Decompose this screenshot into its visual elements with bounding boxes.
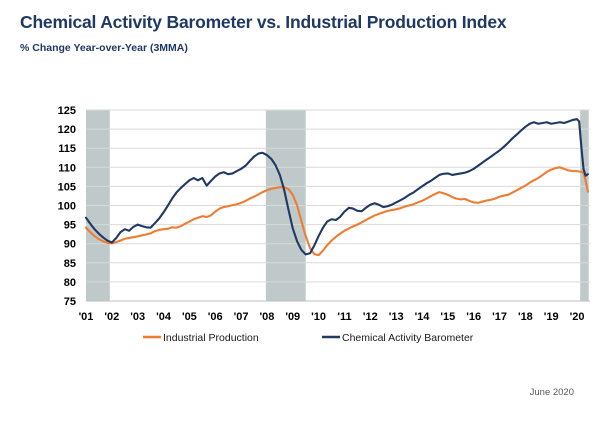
- y-axis-tick-label: 110: [58, 162, 76, 174]
- x-axis-tick-label: '17: [492, 311, 507, 323]
- x-axis-tick-label: '04: [156, 311, 172, 323]
- x-axis-tick-label: '11: [337, 311, 351, 323]
- x-axis-tick-label: '12: [363, 311, 378, 323]
- x-axis-tick-label: '16: [466, 311, 481, 323]
- line-chart-plot: 7580859095100105110115120125'01'02'03'04…: [0, 0, 600, 360]
- x-axis-tick-label: '07: [234, 311, 249, 323]
- y-axis-tick-label: 125: [58, 105, 76, 117]
- x-axis-tick-label: '13: [389, 311, 404, 323]
- y-axis-tick-label: 95: [64, 220, 76, 232]
- y-axis-tick-label: 115: [58, 143, 76, 155]
- x-axis-tick-label: '03: [130, 311, 145, 323]
- chart-container: Chemical Activity Barometer vs. Industri…: [0, 0, 600, 422]
- x-axis-tick-label: '14: [415, 311, 431, 323]
- legend-label: Chemical Activity Barometer: [342, 332, 474, 344]
- y-axis-tick-label: 90: [64, 239, 76, 251]
- date-footnote: June 2020: [530, 387, 574, 398]
- x-axis-tick-label: '10: [311, 311, 326, 323]
- y-axis-tick-label: 85: [64, 258, 76, 270]
- x-axis-tick-label: '20: [570, 311, 585, 323]
- x-axis-tick-label: '08: [259, 311, 274, 323]
- y-axis-tick-label: 120: [58, 124, 76, 136]
- y-axis-tick-label: 80: [64, 277, 76, 289]
- x-axis-tick-label: '01: [79, 311, 94, 323]
- x-axis-tick-label: '19: [544, 311, 559, 323]
- x-axis-tick-label: '15: [440, 311, 455, 323]
- series-line: [86, 167, 588, 255]
- x-axis-tick-label: '06: [208, 311, 223, 323]
- legend-label: Industrial Production: [163, 332, 259, 344]
- y-axis-tick-label: 105: [58, 181, 76, 193]
- x-axis-tick-label: '05: [182, 311, 197, 323]
- x-axis-tick-label: '02: [104, 311, 119, 323]
- y-axis-tick-label: 75: [64, 296, 76, 308]
- x-axis-tick-label: '09: [285, 311, 300, 323]
- x-axis-tick-label: '18: [518, 311, 533, 323]
- y-axis-tick-label: 100: [58, 201, 76, 213]
